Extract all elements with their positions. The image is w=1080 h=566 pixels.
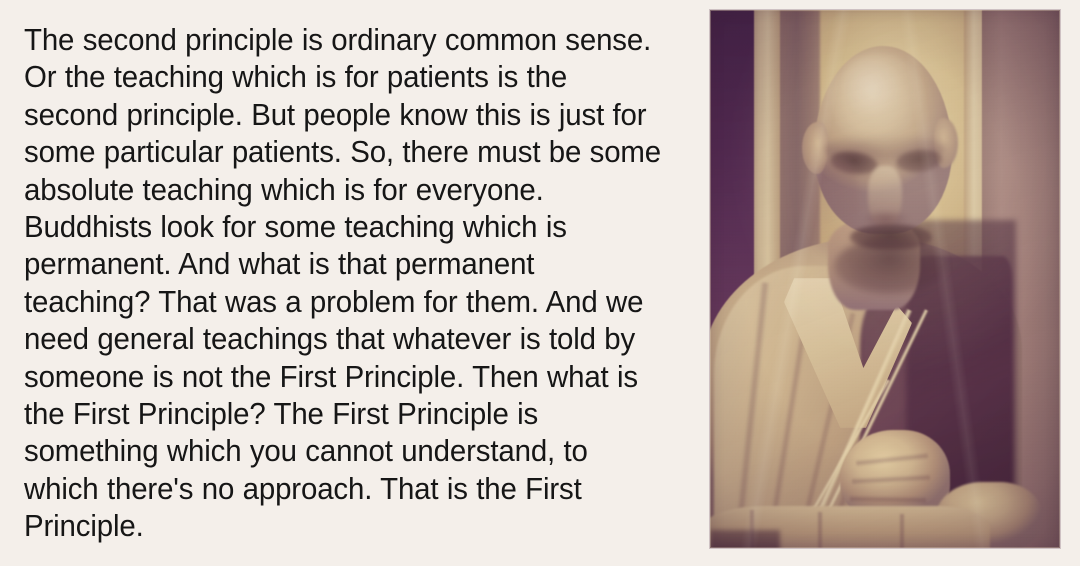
photo-vignette (710, 10, 1060, 548)
monk-photograph (710, 10, 1060, 548)
text-column: The second principle is ordinary common … (24, 22, 692, 542)
body-paragraph: The second principle is ordinary common … (24, 22, 669, 546)
slide-canvas: The second principle is ordinary common … (0, 0, 1080, 566)
photograph-image (710, 10, 1060, 548)
